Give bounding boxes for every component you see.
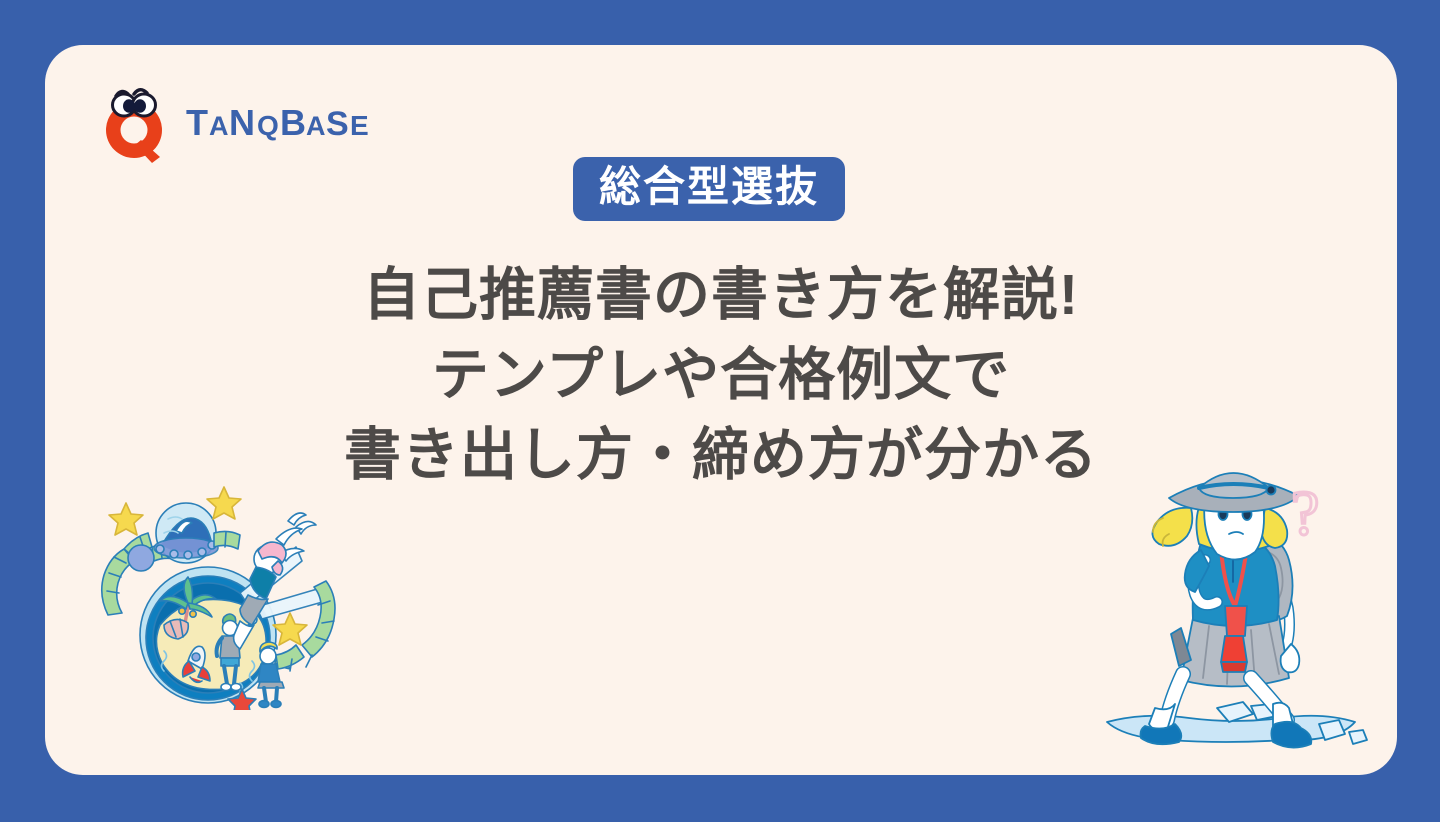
title-line-2: テンプレや合格例文で (45, 335, 1397, 415)
page-root: T A N Q B A S E 総合型選抜 自己推薦書の書き方を解説! テンプレ… (0, 0, 1440, 822)
question-mark-icon: ? (1291, 477, 1319, 548)
back-leg (1141, 674, 1184, 744)
svg-text:E: E (350, 110, 369, 141)
hero-card: T A N Q B A S E 総合型選抜 自己推薦書の書き方を解説! テンプレ… (45, 45, 1397, 775)
blonde-pigtail-left (1152, 508, 1192, 546)
category-badge: 総合型選抜 (573, 157, 845, 221)
svg-text:T: T (186, 102, 208, 143)
svg-text:Q: Q (257, 110, 279, 141)
blonde-pigtail-right (1261, 508, 1287, 548)
explorer-girl-walking-illustration: ? (1105, 450, 1380, 770)
safari-hat (1169, 473, 1299, 512)
yellow-star (207, 487, 241, 519)
yellow-star (109, 503, 143, 535)
title-line-1: 自己推薦書の書き方を解説! (45, 255, 1397, 335)
yellow-star (273, 613, 307, 645)
svg-text:A: A (209, 111, 229, 141)
svg-text:A: A (306, 111, 326, 141)
svg-text:N: N (229, 102, 255, 143)
tanqbase-wordmark: T A N Q B A S E (186, 101, 412, 145)
planet-island-explorers-illustration (90, 475, 340, 710)
svg-text:S: S (326, 105, 349, 143)
small-planet-with-mount-fuji (154, 503, 218, 563)
svg-text:B: B (280, 102, 306, 143)
vine-joint-sphere (128, 545, 154, 571)
tanqbase-q-mark-icon (100, 83, 172, 163)
brand-logo[interactable]: T A N Q B A S E (100, 83, 412, 163)
